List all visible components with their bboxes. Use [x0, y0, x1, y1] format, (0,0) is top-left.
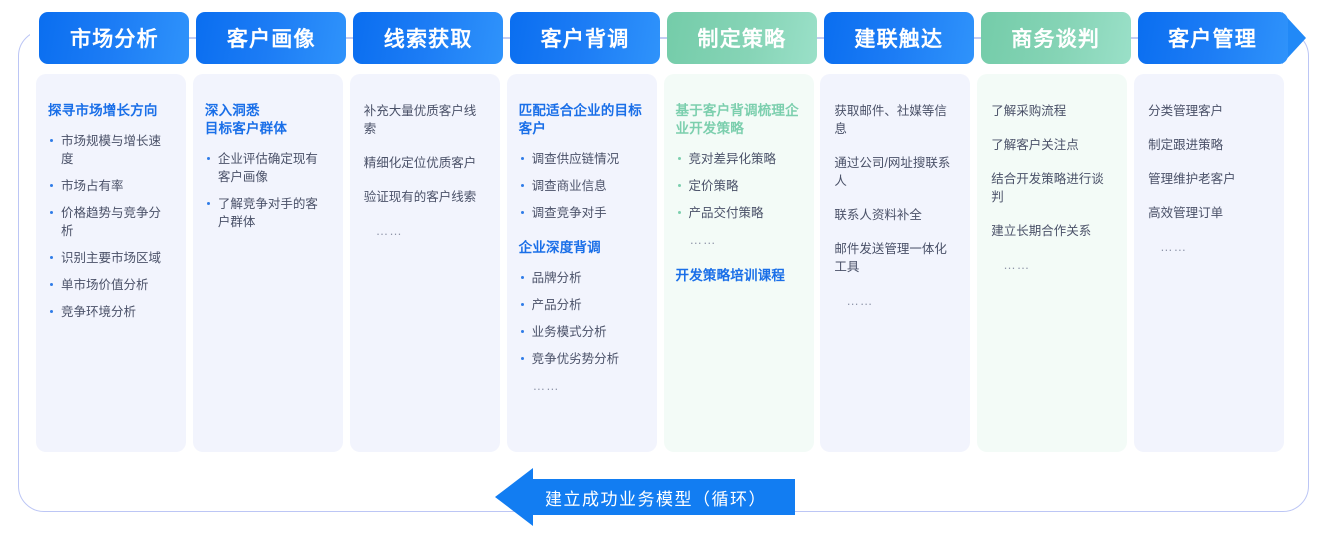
list-item: 通过公司/网址搜联系人 [832, 154, 956, 190]
list-item: 企业评估确定现有客户画像 [205, 150, 329, 186]
list-item: 市场规模与增长速度 [48, 132, 172, 168]
ellipsis-marker: …… [832, 292, 956, 310]
list-item: 了解客户关注点 [989, 136, 1113, 154]
list-item: 精细化定位优质客户 [362, 154, 486, 172]
stage-tab-3[interactable]: 线索获取 [353, 12, 503, 64]
stage-tab-6[interactable]: 建联触达 [824, 12, 974, 64]
card-heading: 探寻市场增长方向 [48, 102, 172, 120]
list-item: 价格趋势与竞争分析 [48, 204, 172, 240]
stage-tab-7[interactable]: 商务谈判 [981, 12, 1131, 64]
spacer [519, 231, 643, 239]
card-bullet-list: 竞对差异化策略定价策略产品交付策略 [676, 150, 800, 222]
card-plain-list: 分类管理客户制定跟进策略管理维护老客户高效管理订单 [1146, 102, 1270, 222]
arrow-left-head-icon [495, 468, 533, 526]
stage-card-2: 深入洞悉目标客户群体企业评估确定现有客户画像了解竞争对手的客户群体 [193, 74, 343, 452]
card-heading: 深入洞悉目标客户群体 [205, 102, 329, 138]
stage-card-4: 匹配适合企业的目标客户调查供应链情况调查商业信息调查竞争对手企业深度背调品牌分析… [507, 74, 657, 452]
list-item: 邮件发送管理一体化工具 [832, 240, 956, 276]
card-heading: 开发策略培训课程 [676, 267, 800, 285]
list-item: 建立长期合作关系 [989, 222, 1113, 240]
list-item: 验证现有的客户线索 [362, 188, 486, 206]
list-item: 了解竞争对手的客户群体 [205, 195, 329, 231]
stage-tab-2[interactable]: 客户画像 [196, 12, 346, 64]
stage-card-1: 探寻市场增长方向市场规模与增长速度市场占有率价格趋势与竞争分析识别主要市场区域单… [36, 74, 186, 452]
card-bullet-list: 企业评估确定现有客户画像了解竞争对手的客户群体 [205, 150, 329, 231]
card-plain-list: 补充大量优质客户线索精细化定位优质客户验证现有的客户线索 [362, 102, 486, 206]
list-item: 竞争环境分析 [48, 303, 172, 321]
card-bullet-list: 市场规模与增长速度市场占有率价格趋势与竞争分析 [48, 132, 172, 240]
list-item: 市场占有率 [48, 177, 172, 195]
process-flow-diagram: 市场分析客户画像线索获取客户背调制定策略建联触达商务谈判客户管理 探寻市场增长方… [0, 0, 1327, 550]
card-heading: 匹配适合企业的目标客户 [519, 102, 643, 138]
list-item: 调查供应链情况 [519, 150, 643, 168]
list-item: 业务模式分析 [519, 323, 643, 341]
list-item: 了解采购流程 [989, 102, 1113, 120]
card-plain-list: 获取邮件、社媒等信息通过公司/网址搜联系人联系人资料补全邮件发送管理一体化工具 [832, 102, 956, 276]
ellipsis-marker: …… [519, 377, 643, 395]
card-bullet-list: 识别主要市场区域单市场价值分析竞争环境分析 [48, 249, 172, 321]
list-item: 竞对差异化策略 [676, 150, 800, 168]
stage-tab-5[interactable]: 制定策略 [667, 12, 817, 64]
list-item: 分类管理客户 [1146, 102, 1270, 120]
stage-tab-1[interactable]: 市场分析 [39, 12, 189, 64]
spacer [676, 259, 800, 267]
list-item: 识别主要市场区域 [48, 249, 172, 267]
list-item: 制定跟进策略 [1146, 136, 1270, 154]
list-item: 竞争优劣势分析 [519, 350, 643, 368]
ellipsis-marker: …… [676, 231, 800, 249]
list-item: 产品分析 [519, 296, 643, 314]
list-item: 联系人资料补全 [832, 206, 956, 224]
stage-tab-4[interactable]: 客户背调 [510, 12, 660, 64]
stage-card-7: 了解采购流程了解客户关注点结合开发策略进行谈判建立长期合作关系…… [977, 74, 1127, 452]
list-item: 补充大量优质客户线索 [362, 102, 486, 138]
card-plain-list: 了解采购流程了解客户关注点结合开发策略进行谈判建立长期合作关系 [989, 102, 1113, 240]
cycle-arrow-banner: 建立成功业务模型（循环） [495, 479, 795, 515]
list-item: 调查竞争对手 [519, 204, 643, 222]
card-bullet-list: 品牌分析产品分析业务模式分析竞争优劣势分析 [519, 269, 643, 368]
ellipsis-marker: …… [989, 256, 1113, 274]
stage-card-3: 补充大量优质客户线索精细化定位优质客户验证现有的客户线索…… [350, 74, 500, 452]
card-bullet-list: 调查供应链情况调查商业信息调查竞争对手 [519, 150, 643, 222]
list-item: 结合开发策略进行谈判 [989, 170, 1113, 206]
list-item: 管理维护老客户 [1146, 170, 1270, 188]
list-item: 品牌分析 [519, 269, 643, 287]
stage-tab-8[interactable]: 客户管理 [1138, 12, 1288, 64]
stage-card-row: 探寻市场增长方向市场规模与增长速度市场占有率价格趋势与竞争分析识别主要市场区域单… [36, 74, 1291, 452]
stage-card-8: 分类管理客户制定跟进策略管理维护老客户高效管理订单…… [1134, 74, 1284, 452]
card-heading: 基于客户背调梳理企业开发策略 [676, 102, 800, 138]
list-item: 调查商业信息 [519, 177, 643, 195]
list-item: 单市场价值分析 [48, 276, 172, 294]
stage-card-6: 获取邮件、社媒等信息通过公司/网址搜联系人联系人资料补全邮件发送管理一体化工具…… [820, 74, 970, 452]
list-item: 产品交付策略 [676, 204, 800, 222]
ellipsis-marker: …… [362, 222, 486, 240]
arrow-banner-label: 建立成功业务模型（循环） [533, 479, 795, 515]
list-item: 获取邮件、社媒等信息 [832, 102, 956, 138]
stage-card-5: 基于客户背调梳理企业开发策略竞对差异化策略定价策略产品交付策略……开发策略培训课… [664, 74, 814, 452]
list-item: 定价策略 [676, 177, 800, 195]
list-item: 高效管理订单 [1146, 204, 1270, 222]
stage-tab-strip: 市场分析客户画像线索获取客户背调制定策略建联触达商务谈判客户管理 [36, 12, 1291, 64]
card-heading: 企业深度背调 [519, 239, 643, 257]
ellipsis-marker: …… [1146, 238, 1270, 256]
